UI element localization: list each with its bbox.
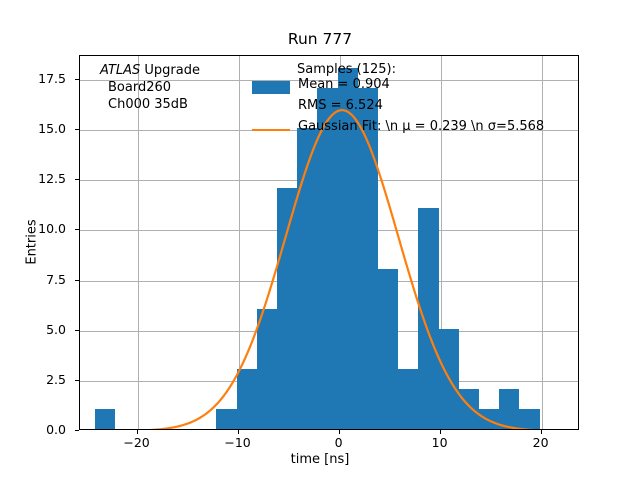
legend: Samples (125): Mean = 0.904 RMS = 6.524 … — [252, 62, 396, 140]
x-tick-mark — [440, 430, 441, 434]
x-tick-mark — [541, 430, 542, 434]
x-tick-label: −20 — [107, 435, 167, 450]
x-tick-mark — [339, 430, 340, 434]
x-tick-label: 0 — [309, 435, 369, 450]
upgrade-label: Upgrade — [140, 63, 200, 78]
legend-entry-samples: Mean = 0.904 — [252, 77, 396, 98]
y-tick-label: 7.5 — [20, 272, 66, 287]
annotation-block: ATLAS Upgrade Board260 Ch000 35dB — [100, 62, 200, 113]
legend-entry-samples-rms: RMS = 6.524 — [252, 98, 396, 119]
figure: Run 777 Entries time [ns] 0.02.55.07.510… — [0, 0, 640, 480]
legend-entry-fit: Gaussian Fit: \n μ = 0.239 \n σ=5.568 — [252, 119, 396, 140]
y-tick-label: 0.0 — [20, 422, 66, 437]
legend-samples-mean: Mean = 0.904 — [298, 77, 390, 92]
legend-line-icon — [252, 129, 290, 131]
x-tick-mark — [137, 430, 138, 434]
x-tick-label: 20 — [511, 435, 571, 450]
y-tick-label: 12.5 — [20, 171, 66, 186]
y-tick-label: 15.0 — [20, 121, 66, 136]
legend-samples-rms: RMS = 6.524 — [298, 98, 383, 113]
y-tick-label: 10.0 — [20, 221, 66, 236]
y-tick-label: 17.5 — [20, 71, 66, 86]
legend-entry-title-samples: Samples (125): — [297, 62, 396, 77]
x-axis-label: time [ns] — [0, 452, 640, 467]
annotation-line-3: Ch000 35dB — [108, 96, 200, 113]
x-tick-label: −10 — [208, 435, 268, 450]
y-tick-mark — [75, 430, 79, 431]
chart-title: Run 777 — [0, 30, 640, 48]
y-tick-label: 5.0 — [20, 322, 66, 337]
x-tick-label: 10 — [410, 435, 470, 450]
y-tick-label: 2.5 — [20, 372, 66, 387]
fit-path — [80, 110, 579, 430]
atlas-label: ATLAS — [100, 63, 140, 78]
annotation-line-2: Board260 — [108, 79, 200, 96]
x-tick-mark — [238, 430, 239, 434]
legend-fit-text: Gaussian Fit: \n μ = 0.239 \n σ=5.568 — [298, 119, 544, 134]
annotation-line-1: ATLAS Upgrade — [100, 62, 200, 79]
legend-patch-icon — [252, 81, 290, 94]
